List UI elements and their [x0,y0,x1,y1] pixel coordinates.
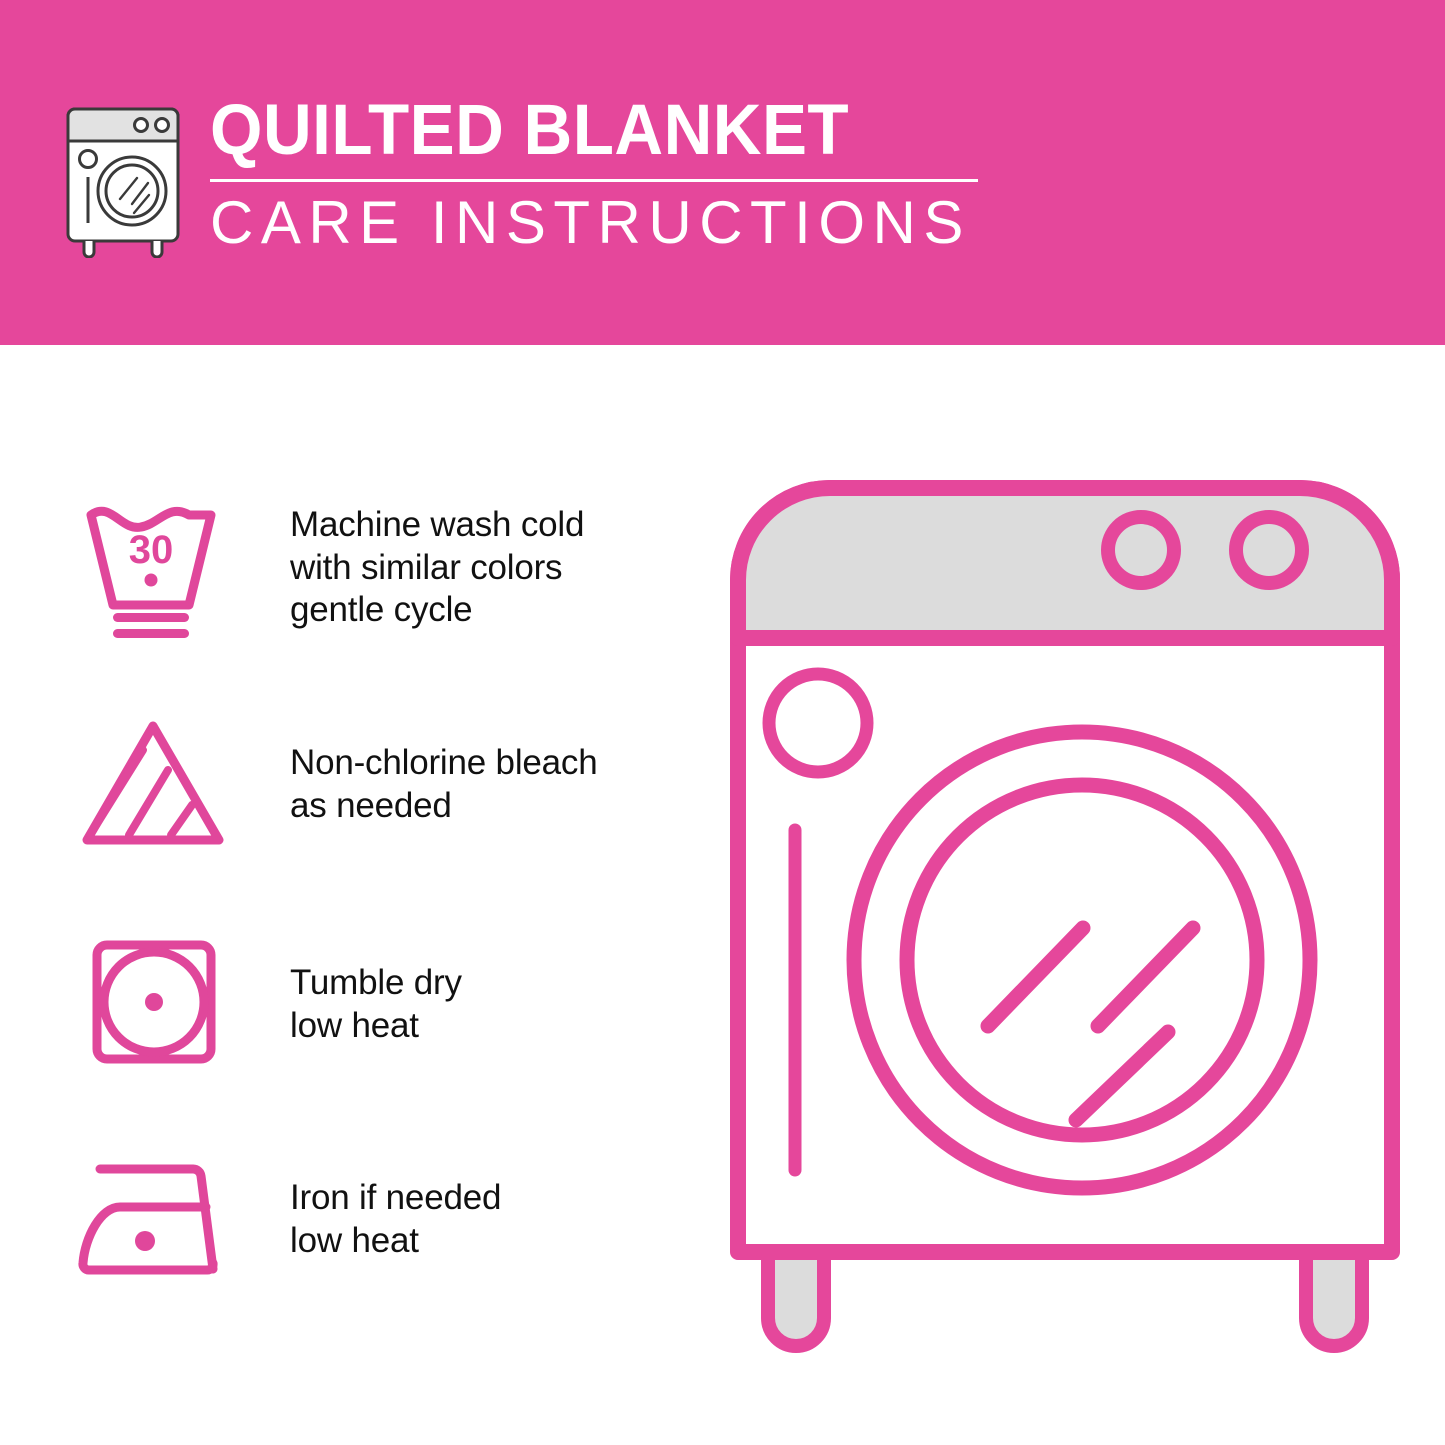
header-title-group: QUILTED BLANKET CARE INSTRUCTIONS [210,95,978,253]
care-text-bleach: Non-chlorine bleach as needed [290,742,598,827]
iron-low-heat-icon [70,1145,235,1295]
care-text-iron: Iron if needed low heat [290,1177,501,1262]
page-title: QUILTED BLANKET [210,95,940,166]
care-row-tumble-dry: Tumble dry low heat [70,930,690,1080]
care-row-wash: 30 Machine wash cold with similar colors… [70,493,690,643]
care-row-iron: Iron if needed low heat [70,1145,690,1295]
non-chlorine-bleach-triangle-icon [70,710,235,860]
page-subtitle: CARE INSTRUCTIONS [210,193,978,253]
header-band: QUILTED BLANKET CARE INSTRUCTIONS [0,0,1445,345]
care-text-tumble-dry: Tumble dry low heat [290,962,462,1047]
care-text-wash: Machine wash cold with similar colors ge… [290,504,584,632]
care-row-bleach: Non-chlorine bleach as needed [70,710,690,860]
large-washing-machine-illustration [720,470,1420,1370]
care-instructions-list: 30 Machine wash cold with similar colors… [0,345,700,1445]
wash-tub-30-gentle-icon: 30 [70,493,235,643]
header-content: QUILTED BLANKET CARE INSTRUCTIONS [60,95,978,258]
svg-text:30: 30 [128,528,173,572]
title-divider [210,179,978,182]
tumble-dry-low-icon [70,930,235,1080]
washing-machine-icon [60,103,190,258]
